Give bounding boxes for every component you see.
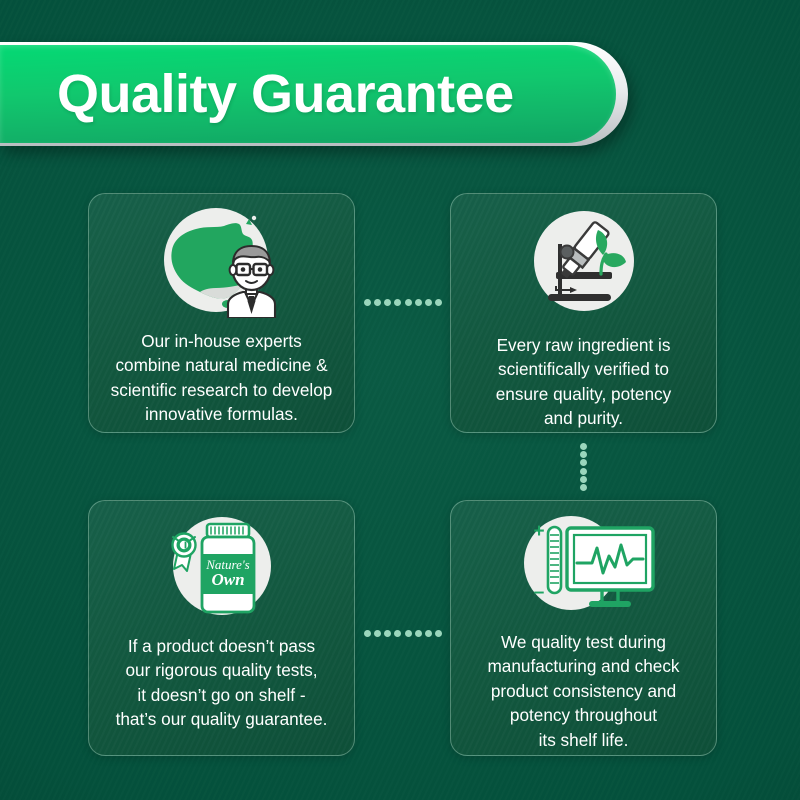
banner-body: Quality Guarantee (0, 45, 616, 143)
connector-dot (580, 451, 587, 458)
connector-dot (394, 299, 401, 306)
plus-sign: + (533, 521, 544, 542)
card-quality-tests: Nature's Own If a product doesn’t pass o… (88, 500, 355, 756)
connector-dot (405, 299, 412, 306)
australia-map-scientist-icon (142, 206, 302, 323)
connector-dot (580, 484, 587, 491)
connector-dot (415, 630, 422, 637)
connector-dot (435, 630, 442, 637)
connector-bottom-horizontal (364, 630, 442, 637)
connector-dot (374, 299, 381, 306)
connector-dot (394, 630, 401, 637)
connector-dot (425, 299, 432, 306)
bottle-brand-line2: Own (211, 570, 244, 589)
connector-dot (415, 299, 422, 306)
card-text: Our in-house experts combine natural med… (97, 329, 347, 427)
connector-top-horizontal (364, 299, 442, 306)
card-manufacturing-testing: + – We quality test du (450, 500, 717, 756)
card-text: If a product doesn’t pass our rigorous q… (102, 634, 342, 732)
card-text: Every raw ingredient is scientifically v… (482, 333, 685, 431)
connector-dot (364, 299, 371, 306)
connector-dot (364, 630, 371, 637)
connector-dot (580, 468, 587, 475)
card-text: We quality test during manufacturing and… (473, 630, 693, 752)
card-expertise: Our in-house experts combine natural med… (88, 193, 355, 433)
connector-dot (580, 459, 587, 466)
microscope-leaf-icon (520, 208, 648, 323)
connector-right-vertical (580, 443, 587, 491)
supplement-bottle-award-icon: Nature's Own (152, 515, 292, 626)
connector-dot (384, 299, 391, 306)
header-banner: Quality Guarantee (0, 42, 628, 146)
infographic-background: Quality Guarantee (0, 0, 800, 800)
connector-dot (384, 630, 391, 637)
monitor-ekg-thermometer-icon: + – (509, 515, 659, 624)
connector-dot (580, 476, 587, 483)
page-title: Quality Guarantee (57, 63, 514, 125)
connector-dot (374, 630, 381, 637)
connector-dot (425, 630, 432, 637)
connector-dot (580, 443, 587, 450)
connector-dot (435, 299, 442, 306)
minus-sign: – (533, 582, 544, 603)
connector-dot (405, 630, 412, 637)
card-raw-ingredient-testing: Every raw ingredient is scientifically v… (450, 193, 717, 433)
